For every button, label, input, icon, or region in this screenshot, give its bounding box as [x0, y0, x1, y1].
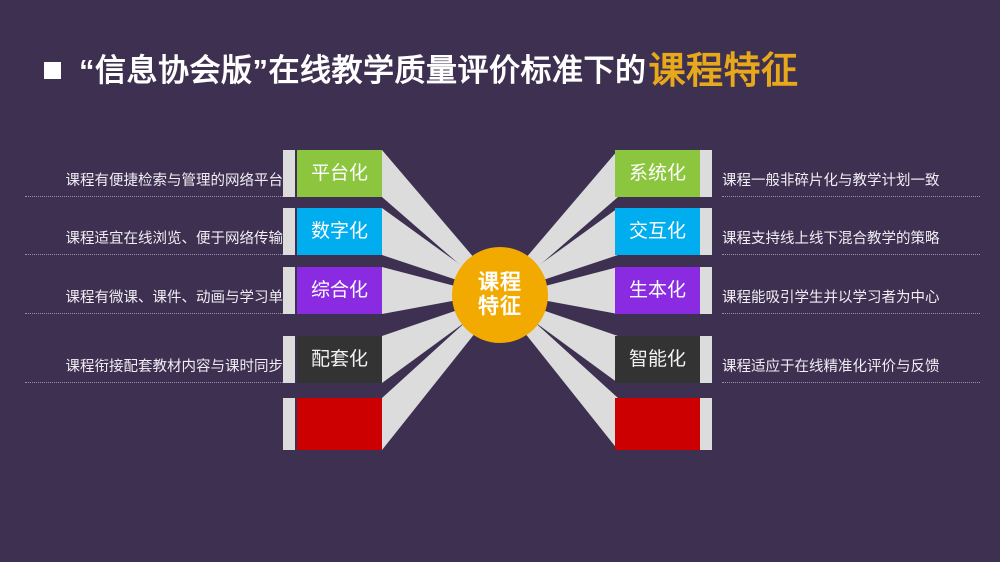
- tile-right-1[interactable]: 系统化: [615, 150, 700, 197]
- desc-right-1: 课程一般非碎片化与教学计划一致: [722, 150, 980, 197]
- tile-right-5[interactable]: [615, 398, 700, 450]
- desc-left-1: 课程有便捷检索与管理的网络平台: [25, 150, 283, 197]
- hub-line-2: 特征: [478, 295, 522, 319]
- tile-edge: [283, 208, 295, 255]
- desc-divider: [25, 381, 283, 383]
- tile-edge: [283, 267, 295, 314]
- tile-left-5[interactable]: [297, 398, 382, 450]
- tile-edge: [700, 398, 712, 450]
- slide-canvas: “信息协会版”在线教学质量评价标准下的 课程特征 平台化 数字化 综合化 配套化: [0, 0, 1000, 562]
- desc-text: 课程有微课、课件、动画与学习单: [66, 291, 284, 306]
- desc-divider: [722, 195, 980, 197]
- desc-divider: [722, 253, 980, 255]
- desc-left-3: 课程有微课、课件、动画与学习单: [25, 267, 283, 314]
- tile-edge: [283, 336, 295, 383]
- hub-line-1: 课程: [478, 271, 522, 295]
- center-hub[interactable]: 课程 特征: [452, 247, 548, 343]
- tile-label: 智能化: [615, 350, 700, 369]
- tile-left-3[interactable]: 综合化: [297, 267, 382, 314]
- tile-left-1[interactable]: 平台化: [297, 150, 382, 197]
- desc-divider: [25, 253, 283, 255]
- tile-label: 综合化: [297, 281, 382, 300]
- desc-text: 课程能吸引学生并以学习者为中心: [722, 291, 940, 306]
- tile-right-2[interactable]: 交互化: [615, 208, 700, 255]
- tile-label: 生本化: [615, 281, 700, 300]
- tile-label: 数字化: [297, 222, 382, 241]
- desc-text: 课程支持线上线下混合教学的策略: [722, 232, 940, 247]
- tile-right-3[interactable]: 生本化: [615, 267, 700, 314]
- desc-divider: [722, 312, 980, 314]
- desc-right-3: 课程能吸引学生并以学习者为中心: [722, 267, 980, 314]
- desc-left-4: 课程衔接配套教材内容与课时同步: [25, 336, 283, 383]
- tile-right-4[interactable]: 智能化: [615, 336, 700, 383]
- desc-text: 课程一般非碎片化与教学计划一致: [722, 174, 940, 189]
- desc-text: 课程衔接配套教材内容与课时同步: [66, 360, 284, 375]
- desc-divider: [25, 312, 283, 314]
- tile-edge: [283, 150, 295, 197]
- tile-edge: [700, 336, 712, 383]
- fishbone-diagram: 平台化 数字化 综合化 配套化 系统化 交互化 生本化: [0, 0, 1000, 562]
- desc-divider: [722, 381, 980, 383]
- tile-edge: [700, 208, 712, 255]
- tile-edge: [700, 267, 712, 314]
- desc-divider: [25, 195, 283, 197]
- tile-left-4[interactable]: 配套化: [297, 336, 382, 383]
- tile-label: 系统化: [615, 164, 700, 183]
- desc-text: 课程适宜在线浏览、便于网络传输: [66, 232, 284, 247]
- desc-text: 课程有便捷检索与管理的网络平台: [66, 174, 284, 189]
- tile-left-2[interactable]: 数字化: [297, 208, 382, 255]
- desc-left-2: 课程适宜在线浏览、便于网络传输: [25, 208, 283, 255]
- tile-label: 配套化: [297, 350, 382, 369]
- tile-edge: [700, 150, 712, 197]
- tile-label: 交互化: [615, 222, 700, 241]
- tile-label: 平台化: [297, 164, 382, 183]
- tile-edge: [283, 398, 295, 450]
- desc-right-4: 课程适应于在线精准化评价与反馈: [722, 336, 980, 383]
- desc-right-2: 课程支持线上线下混合教学的策略: [722, 208, 980, 255]
- desc-text: 课程适应于在线精准化评价与反馈: [722, 360, 940, 375]
